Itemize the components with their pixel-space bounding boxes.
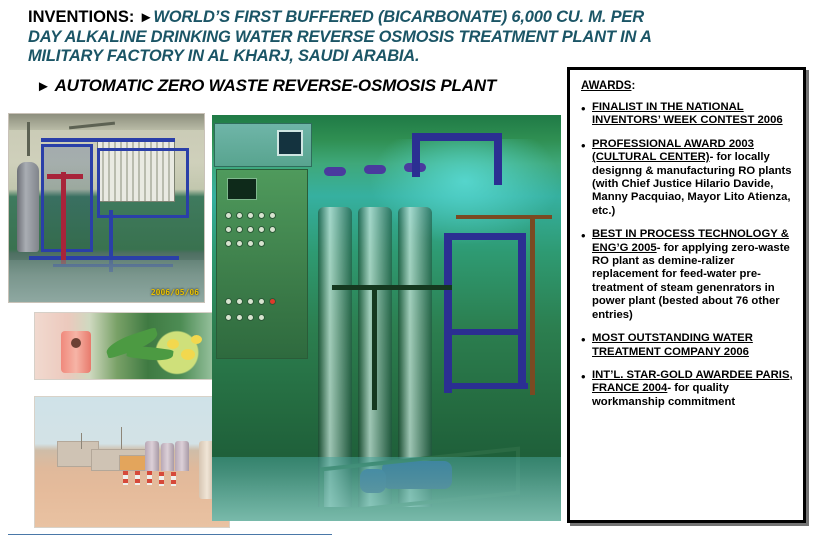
photo-flower — [191, 335, 202, 344]
photo-flower — [181, 349, 195, 360]
photo-panel-button — [236, 212, 243, 219]
heading-line-4: ► AUTOMATIC ZERO WASTE REVERSE-OSMOSIS P… — [28, 76, 600, 97]
photo-rust-pipe — [530, 215, 535, 395]
photo-panel-button — [236, 298, 243, 305]
photo-desert-facility — [34, 396, 230, 528]
photo-red-pipe — [61, 172, 66, 264]
photo-panel-button — [247, 240, 254, 247]
photo-red-pipe — [47, 174, 83, 179]
award-text: PROFESSIONAL AWARD 2003 (CULTURAL CENTER… — [592, 138, 795, 218]
photo-dark-pipe — [332, 285, 452, 290]
photo-blue-pipe — [444, 233, 452, 393]
photo-control-panel — [216, 169, 308, 359]
heading-line-4-text: AUTOMATIC ZERO WASTE REVERSE-OSMOSIS PLA… — [55, 76, 497, 95]
photo-purple-pipe — [364, 165, 386, 174]
photo-blue-pipe — [518, 233, 526, 383]
bullet-icon: • — [581, 369, 592, 409]
photo-rust-pipe — [456, 215, 552, 219]
slide-heading: INVENTIONS: ►WORLD’S FIRST BUFFERED (BIC… — [0, 0, 600, 96]
photo-panel-button — [258, 298, 265, 305]
photo-lamp-post — [81, 433, 82, 449]
photo-silo — [175, 441, 189, 471]
photo-bollard — [135, 471, 140, 485]
photo-panel-button — [258, 240, 265, 247]
bullet-icon: • — [581, 228, 592, 322]
photo-button-row — [225, 298, 276, 305]
award-text: BEST IN PROCESS TECHNOLOGY & ENG’G 2005-… — [592, 228, 795, 322]
photo-blue-frame — [41, 144, 93, 252]
photo-greenery — [34, 312, 218, 380]
photo-panel-button — [225, 240, 232, 247]
photo-panel-screen — [227, 178, 257, 200]
awards-title-text: AWARDS — [581, 80, 631, 92]
awards-box: AWARDS: •FINALIST IN THE NATIONAL INVENT… — [567, 67, 806, 523]
photo-panel-button — [258, 212, 265, 219]
photo-panel-button — [236, 314, 243, 321]
photo-blue-pipe — [494, 133, 502, 185]
award-item: •BEST IN PROCESS TECHNOLOGY & ENG’G 2005… — [581, 228, 795, 322]
photo-purple-pipe — [324, 167, 346, 176]
heading-line-3: MILITARY FACTORY IN AL KHARJ, SAUDI ARAB… — [28, 47, 600, 67]
award-item: •FINALIST IN THE NATIONAL INVENTORS’ WEE… — [581, 101, 795, 128]
awards-title: AWARDS: — [581, 80, 795, 92]
awards-title-colon: : — [631, 80, 635, 92]
photo-bollard — [159, 472, 164, 486]
photo-instrument-box — [214, 123, 312, 167]
photo-dark-pipe — [372, 290, 377, 410]
heading-line-1: INVENTIONS: ►WORLD’S FIRST BUFFERED (BIC… — [28, 8, 600, 28]
heading-line-1-text: WORLD’S FIRST BUFFERED (BICARBONATE) 6,0… — [153, 8, 644, 26]
photo-panel-button — [225, 212, 232, 219]
photo-panel-button — [258, 314, 265, 321]
photo-blue-pipe — [444, 233, 526, 240]
photo-button-row — [225, 212, 276, 219]
triangle-bullet-icon: ► — [139, 9, 154, 26]
photo-panel-button — [225, 226, 232, 233]
photo-flower — [167, 339, 179, 349]
photo-button-row — [225, 240, 265, 247]
photo-ro-machine-main — [212, 115, 561, 521]
photo-panel-button — [236, 240, 243, 247]
photo-silo — [145, 441, 159, 471]
bottom-divider-rule — [8, 534, 332, 535]
photo-button-row — [225, 226, 276, 233]
photo-blue-pipe — [412, 133, 502, 141]
photo-panel-button — [247, 314, 254, 321]
award-item: •INT’L. STAR-GOLD AWARDEE PARIS, FRANCE … — [581, 369, 795, 409]
award-headline: FINALIST IN THE NATIONAL INVENTORS’ WEEK… — [592, 101, 783, 126]
photo-blue-pipe — [41, 138, 175, 142]
award-text: MOST OUTSTANDING WATER TREATMENT COMPANY… — [592, 332, 795, 359]
photo-panel-button — [236, 226, 243, 233]
photo-silo — [161, 443, 174, 471]
awards-list: •FINALIST IN THE NATIONAL INVENTORS’ WEE… — [581, 101, 795, 409]
photo-panel-button — [269, 226, 276, 233]
photo-bollard — [123, 471, 128, 485]
photo-panel-indicator-light — [269, 298, 276, 305]
triangle-bullet-icon-2: ► — [36, 78, 51, 95]
photo-panel-button — [225, 298, 232, 305]
photo-panel-button — [258, 226, 265, 233]
photo-button-row — [225, 314, 265, 321]
photo-panel-button — [247, 226, 254, 233]
heading-line-2: DAY ALKALINE DRINKING WATER REVERSE OSMO… — [28, 28, 600, 48]
photo-floor — [212, 457, 561, 521]
award-item: •MOST OUTSTANDING WATER TREATMENT COMPAN… — [581, 332, 795, 359]
photo-panel-button — [269, 212, 276, 219]
photo-panel-button — [247, 212, 254, 219]
photo-blue-pipe — [446, 329, 526, 335]
award-text: FINALIST IN THE NATIONAL INVENTORS’ WEEK… — [592, 101, 795, 128]
photo-bollard — [171, 472, 176, 486]
photo-pressure-tank — [17, 162, 39, 252]
award-item: •PROFESSIONAL AWARD 2003 (CULTURAL CENTE… — [581, 138, 795, 218]
photo-timestamp: 2006/05/06 — [151, 288, 199, 297]
bullet-icon: • — [581, 332, 592, 359]
award-headline: MOST OUTSTANDING WATER TREATMENT COMPANY… — [592, 332, 753, 357]
photo-bollard — [147, 471, 152, 485]
award-text: INT’L. STAR-GOLD AWARDEE PARIS, FRANCE 2… — [592, 369, 795, 409]
photo-panel-button — [247, 298, 254, 305]
photo-panel-button — [225, 314, 232, 321]
inventions-label: INVENTIONS: — [28, 8, 134, 26]
photo-ro-plant-indoor: 2006/05/06 — [8, 113, 205, 303]
bullet-icon: • — [581, 138, 592, 218]
photo-blue-pipe — [448, 383, 528, 389]
photo-instrument-display — [277, 130, 303, 156]
photo-beam — [27, 122, 30, 156]
photo-blue-frame-2 — [97, 148, 189, 218]
photo-roll-core — [71, 338, 81, 348]
photo-lamp-post — [121, 427, 122, 449]
bullet-icon: • — [581, 101, 592, 128]
